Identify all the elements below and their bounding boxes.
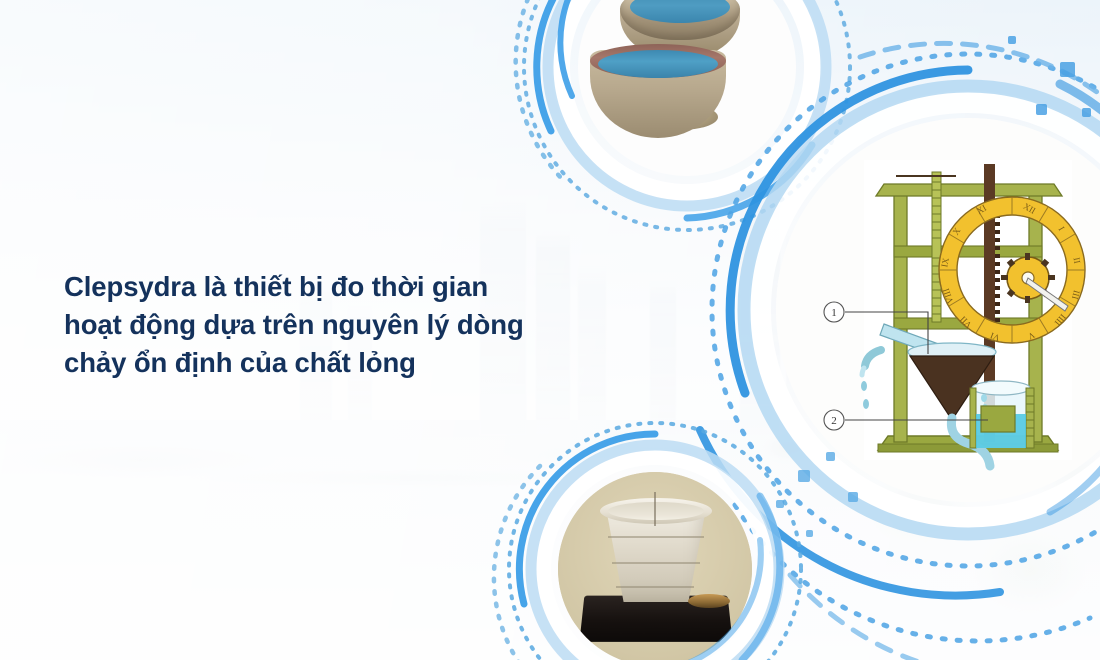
page-title: Clepsydra là thiết bị đo thời gian hoạt …: [64, 268, 584, 382]
banner-stage: XII I II III IIII V VI VII VIII IX X XI: [0, 0, 1100, 660]
